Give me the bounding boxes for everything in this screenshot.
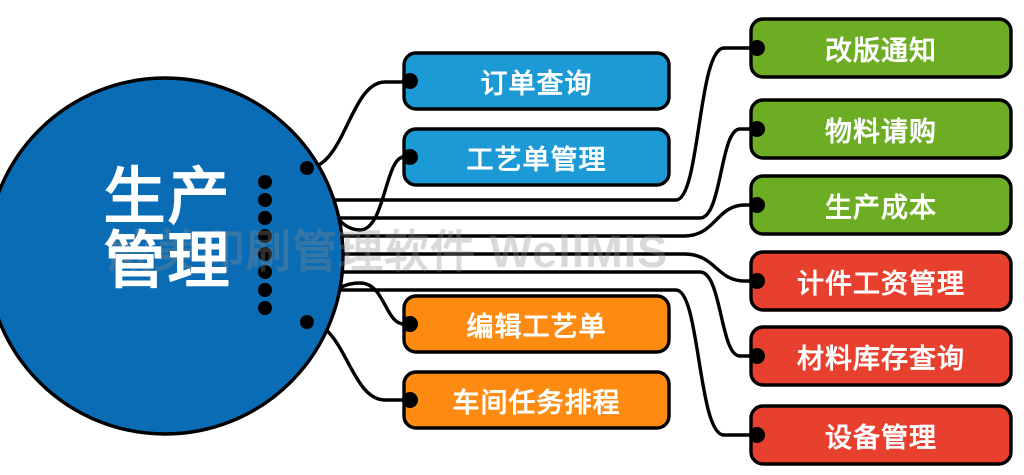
node-box-material-stock[interactable] <box>751 327 1011 385</box>
hub-layer <box>0 78 343 434</box>
hub-dot-conn-edit-process-sheet <box>258 301 272 315</box>
node-layer <box>404 19 1011 464</box>
hub-dot-conn-production-cost <box>258 229 272 243</box>
node-dot-material-stock <box>749 348 765 364</box>
hub-dot-conn-material-stock <box>258 265 272 279</box>
node-dot-material-request <box>749 121 765 137</box>
node-dot-order-query <box>402 73 418 89</box>
node-dot-revision-notice <box>749 40 765 56</box>
node-dot-process-sheet-mgmt <box>402 149 418 165</box>
node-box-piecework-wage[interactable] <box>751 252 1011 310</box>
hub-dot-conn-order-query <box>300 161 314 175</box>
diagram-canvas: 威美印刷管理软件 WellMIS 生产 管理 订单查询工艺单管理编辑工艺单车间任… <box>0 0 1024 475</box>
node-box-process-sheet-mgmt[interactable] <box>404 129 669 185</box>
hub-dot-conn-material-request <box>258 211 272 225</box>
hub-circle[interactable] <box>0 78 343 434</box>
node-dot-workshop-schedule <box>402 392 418 408</box>
node-dot-production-cost <box>749 197 765 213</box>
hub-dot-conn-revision-notice <box>258 193 272 207</box>
node-dot-equipment-mgmt <box>749 427 765 443</box>
node-dot-piecework-wage <box>749 273 765 289</box>
hub-dot-conn-piecework-wage <box>258 247 272 261</box>
node-box-production-cost[interactable] <box>751 176 1011 234</box>
hub-dot-conn-workshop-schedule <box>300 315 314 329</box>
diagram-graphics <box>0 0 1024 475</box>
node-box-material-request[interactable] <box>751 100 1011 158</box>
node-box-edit-process-sheet[interactable] <box>404 296 669 352</box>
hub-dot-conn-equipment-mgmt <box>258 283 272 297</box>
node-box-order-query[interactable] <box>404 53 669 109</box>
node-dot-edit-process-sheet <box>402 316 418 332</box>
node-box-revision-notice[interactable] <box>751 19 1011 77</box>
hub-dot-conn-process-sheet-mgmt <box>258 175 272 189</box>
node-box-equipment-mgmt[interactable] <box>751 406 1011 464</box>
node-box-workshop-schedule[interactable] <box>404 372 669 428</box>
conn-order-query <box>307 82 404 168</box>
